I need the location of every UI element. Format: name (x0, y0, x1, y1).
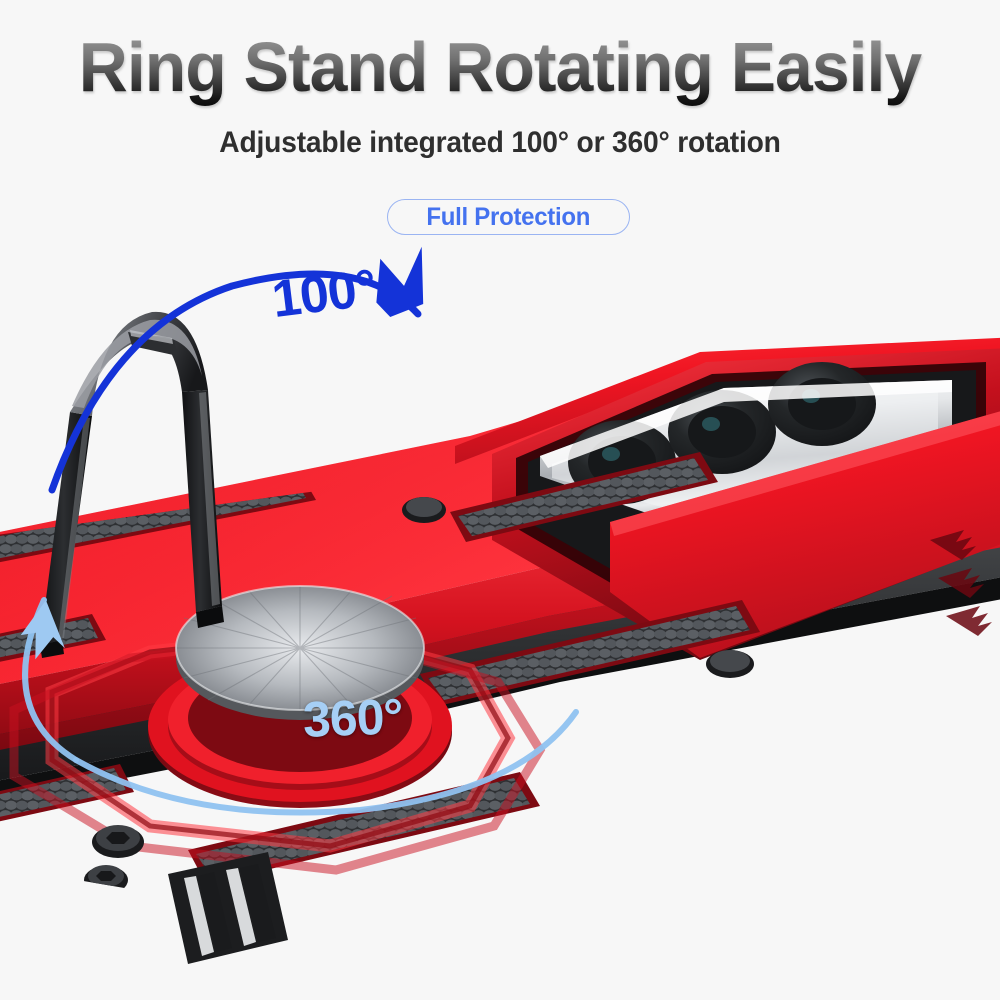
page-subtitle: Adjustable integrated 100° or 360° rotat… (30, 124, 970, 162)
side-button[interactable] (168, 852, 288, 964)
status-badge-label: Full Protection (427, 203, 591, 232)
hex-screw-icon (402, 497, 446, 523)
status-badge: Full Protection (387, 199, 630, 235)
page-title: Ring Stand Rotating Easily (15, 26, 985, 108)
product-marketing-image: Ring Stand Rotating Easily Adjustable in… (0, 0, 1000, 1000)
hex-screw-icon (706, 650, 754, 678)
product-svg (0, 240, 1000, 1000)
product-illustration (0, 240, 1000, 1000)
hex-screw-icon (84, 865, 128, 894)
